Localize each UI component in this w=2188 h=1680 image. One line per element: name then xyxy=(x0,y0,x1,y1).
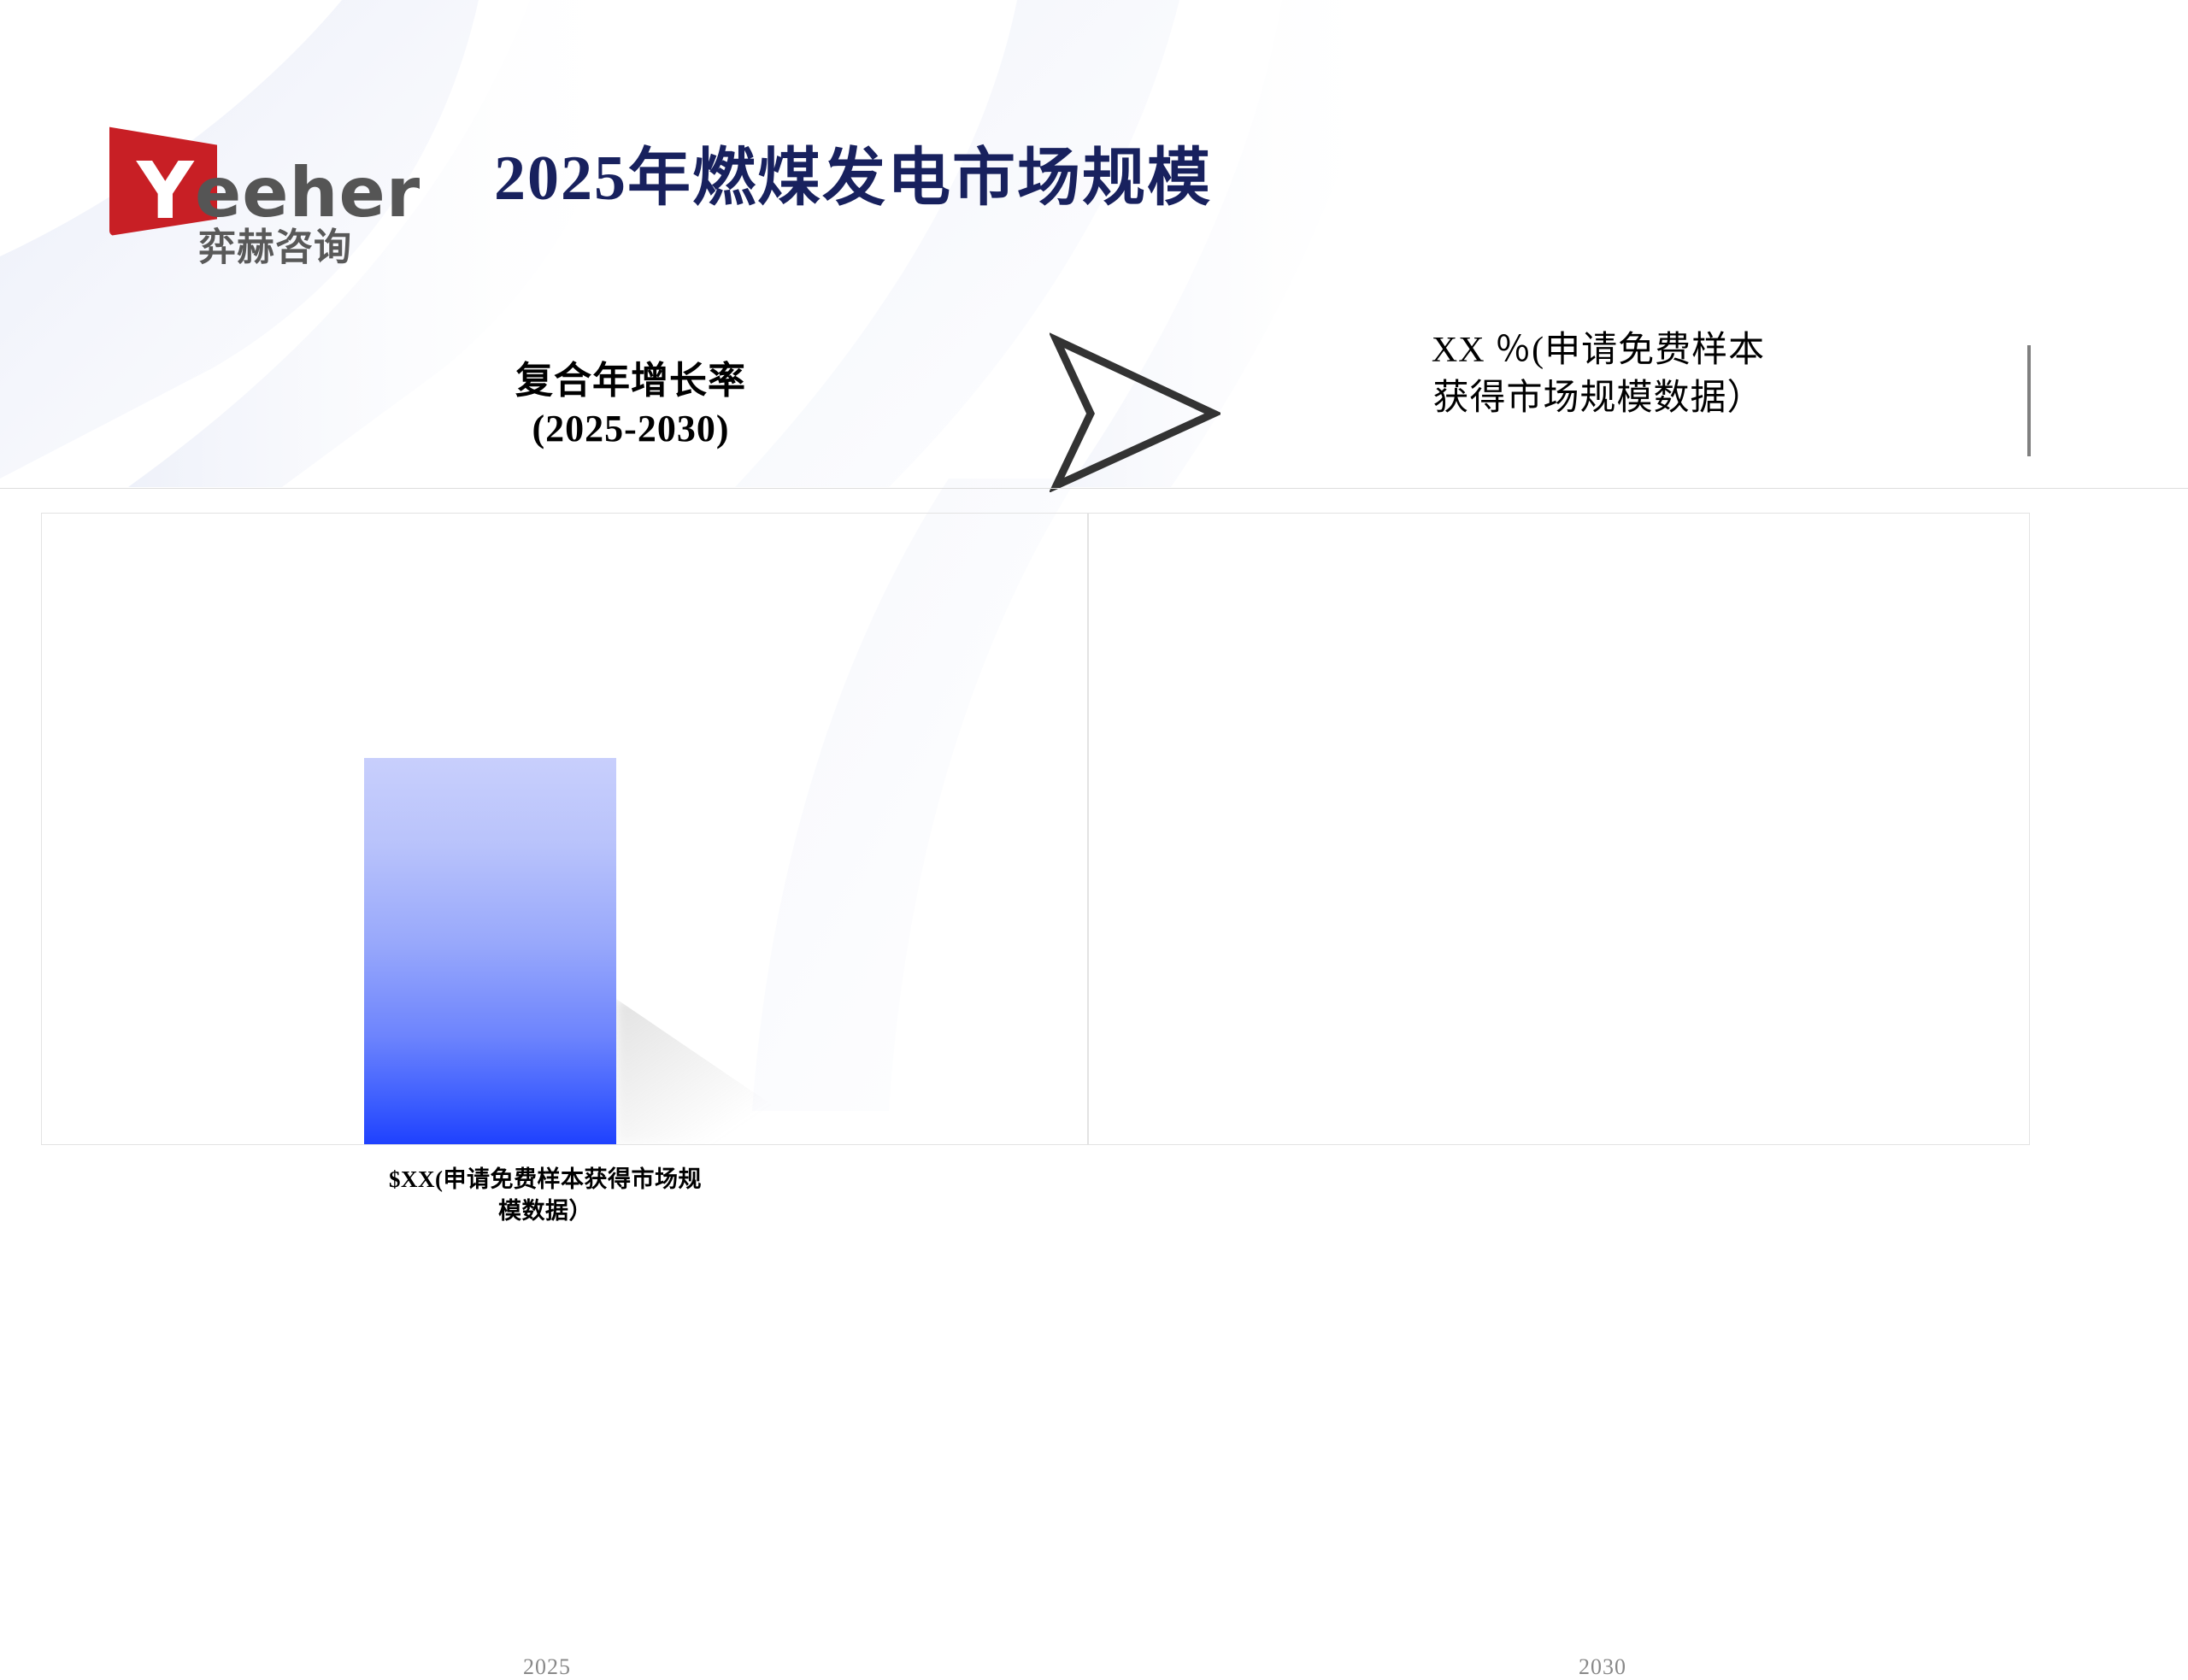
cagr-label: 复合年增长率 xyxy=(468,357,793,405)
logo-letter-y: Y xyxy=(137,152,192,231)
bar-chart: $XX(申请免费样本获得市场规 模数据） 2025 2030 xyxy=(0,489,2188,1231)
bar-data-label-2025: $XX(申请免费样本获得市场规 模数据） xyxy=(349,1164,742,1228)
cagr-block: 复合年增长率 (2025-2030) xyxy=(468,357,793,454)
market-size-value-label: XX ％(申请免费样本 获得市场规模数据） xyxy=(1393,326,1803,423)
bar-data-label-2025-line2: 模数据） xyxy=(349,1195,742,1227)
chart-panel-2025 xyxy=(41,513,1088,1145)
chart-panel-2030 xyxy=(1088,513,2030,1145)
header: Y eeher 弈赫咨询 2025年燃煤发电市场规模 复合年增长率 (2025-… xyxy=(0,0,2188,489)
bar-shadow-2025 xyxy=(616,999,830,1144)
cagr-period: (2025-2030) xyxy=(468,405,793,453)
growth-arrow-icon xyxy=(1050,330,1220,492)
bar-2025[interactable] xyxy=(364,758,616,1144)
logo-chinese-name: 弈赫咨询 xyxy=(198,229,352,267)
bar-data-label-2025-line1: $XX(申请免费样本获得市场规 xyxy=(349,1164,742,1195)
page-title: 2025年燃煤发电市场规模 xyxy=(494,126,1212,218)
logo-wordmark: eeher xyxy=(195,159,421,227)
axis-tick-2030: 2030 xyxy=(1517,1654,1688,1680)
market-size-value-line1: XX ％(申请免费样本 xyxy=(1393,326,1803,374)
axis-tick-2025: 2025 xyxy=(462,1654,632,1680)
brand-logo: Y eeher 弈赫咨询 xyxy=(109,109,400,272)
header-vertical-rule xyxy=(2027,345,2031,456)
market-size-value-line2: 获得市场规模数据） xyxy=(1393,374,1803,422)
